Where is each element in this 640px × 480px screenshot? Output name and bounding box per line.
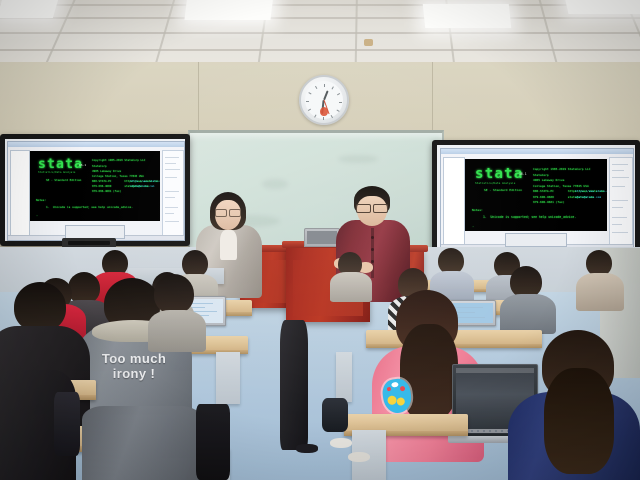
student-head	[14, 282, 66, 332]
person-standing-legs	[280, 320, 308, 450]
right-display-variables-pane	[443, 157, 465, 247]
classroom-photo: stata Statistics/Data Analysis SE - Stan…	[0, 0, 640, 480]
stata-copyright-7: 979-696-4601 (fax)	[533, 201, 564, 204]
shoe-right	[348, 452, 370, 462]
ceiling-light-3	[423, 4, 512, 28]
person-dark-pants-right	[196, 404, 230, 480]
stata-notes-line: 1. Unicode is supported; see help unicod…	[46, 206, 133, 209]
stata-prompt: .	[36, 214, 38, 218]
left-display-screen: stata Statistics/Data Analysis SE - Stan…	[5, 139, 185, 241]
ceiling	[0, 0, 640, 66]
hoodie-text-line2: irony !	[86, 367, 182, 382]
student-body	[82, 406, 202, 480]
ceiling-light-1	[0, 0, 59, 18]
left-display-stata-console: stata Statistics/Data Analysis SE - Stan…	[30, 151, 160, 221]
stata-notes-heading: Notes:	[36, 199, 46, 202]
eyeglasses-icon	[356, 204, 388, 211]
student-body	[330, 272, 372, 302]
eyeglasses-icon	[215, 209, 241, 215]
stata-email-link[interactable]: stata@stata.com	[130, 185, 154, 188]
left-display-status-box	[65, 225, 125, 239]
stata-copyright-3: 4905 Lakeway Drive	[92, 170, 121, 173]
backpack-on-floor	[322, 398, 348, 432]
shoe-left	[330, 438, 352, 448]
desk-panel-row3b	[336, 352, 352, 402]
stata-email-link[interactable]: stata@stata.com	[575, 196, 601, 199]
student-body	[500, 294, 556, 334]
clock-decoration	[320, 107, 328, 116]
stata-notes-line: 1. Unicode is supported; see help unicod…	[483, 216, 576, 220]
presenter-woman-shirt	[220, 230, 237, 260]
student-body	[148, 310, 206, 352]
stata-copyright-1: Copyright 1985-2019 StataCorp LLC	[92, 159, 145, 162]
ceiling-light-4	[563, 0, 640, 14]
right-wall-display[interactable]: stata Statistics/Data Analysis SE - Stan…	[432, 140, 640, 256]
left-wall-display[interactable]: stata Statistics/Data Analysis SE - Stan…	[0, 134, 190, 246]
macbook-menu-bar	[456, 368, 534, 373]
student-head	[182, 250, 208, 277]
right-display-screen: stata Statistics/Data Analysis SE - Stan…	[437, 145, 635, 251]
left-display-variables-pane	[10, 150, 30, 238]
aisle-person-left	[54, 392, 80, 456]
hoodie-text-line1: Too much	[86, 352, 182, 367]
stata-copyright-7: 979-696-4601 (fax)	[92, 190, 121, 193]
stata-copyright-2: StataCorp	[92, 165, 107, 168]
student-navy-hoodie-hair-long	[544, 368, 614, 474]
aisle-person-shoes	[296, 444, 318, 453]
stata-logo: stata	[475, 167, 524, 181]
left-display-properties-pane	[162, 150, 184, 238]
wall-clock	[299, 75, 349, 125]
podium-laptop[interactable]	[304, 228, 338, 248]
stata-copyright-3: 4905 Lakeway Drive	[533, 179, 564, 182]
ceiling-light-2	[184, 0, 273, 20]
stata-edition-line: SE - Standard Edition	[46, 179, 81, 182]
right-display-stata-console: stata Statistics/Data Analysis SE - Stan…	[465, 159, 607, 231]
stata-url-link[interactable]: https://www.stata.com	[130, 180, 160, 183]
stata-prompt: .	[472, 224, 474, 228]
desk-panel-row3	[216, 352, 240, 404]
smoke-detector-icon	[364, 39, 373, 46]
stata-logo-subtitle: Statistics/Data Analysis	[38, 172, 75, 175]
stata-version: 16.1	[519, 173, 527, 177]
right-display-status-box	[505, 233, 567, 247]
stata-copyright-4: College Station, Texas 77845 USA	[92, 175, 144, 178]
stata-logo-subtitle: Statistics/Data Analysis	[475, 182, 515, 185]
stata-notes-heading: Notes:	[472, 209, 483, 212]
stata-logo: stata	[38, 158, 83, 171]
stata-copyright-4: College Station, Texas 77845 USA	[533, 185, 589, 188]
stata-copyright-1: Copyright 1985-2019 StataCorp LLC	[533, 168, 590, 171]
student-body	[576, 273, 624, 311]
right-display-properties-pane	[609, 157, 633, 247]
stata-version: 16.1	[79, 164, 86, 167]
stata-copyright-2: StataCorp	[533, 174, 549, 177]
stata-url-link[interactable]: https://www.stata.com	[575, 190, 607, 193]
stata-edition-line: SE - Standard Edition	[484, 189, 522, 192]
student-head	[154, 274, 194, 314]
